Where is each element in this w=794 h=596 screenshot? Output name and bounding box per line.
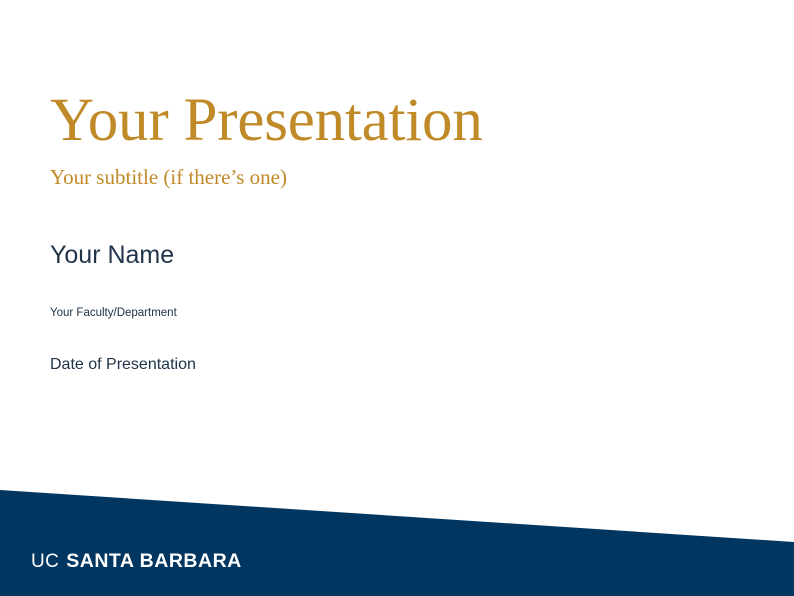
logo-wordmark: SANTA BARBARA [59, 550, 242, 573]
logo-uc-prefix: UC [31, 551, 59, 573]
slide-text-block: Your Presentation Your subtitle (if ther… [50, 90, 740, 376]
presentation-date[interactable]: Date of Presentation [50, 321, 740, 376]
slide-title[interactable]: Your Presentation [50, 90, 740, 151]
presenter-name[interactable]: Your Name [50, 190, 740, 270]
presenter-affiliation[interactable]: Your Faculty/Department [50, 270, 740, 321]
footer-banner-shape [0, 490, 794, 596]
title-slide: Your Presentation Your subtitle (if ther… [0, 0, 794, 596]
ucsb-logo: UC SANTA BARBARA [31, 550, 242, 573]
slide-subtitle[interactable]: Your subtitle (if there’s one) [50, 151, 740, 190]
